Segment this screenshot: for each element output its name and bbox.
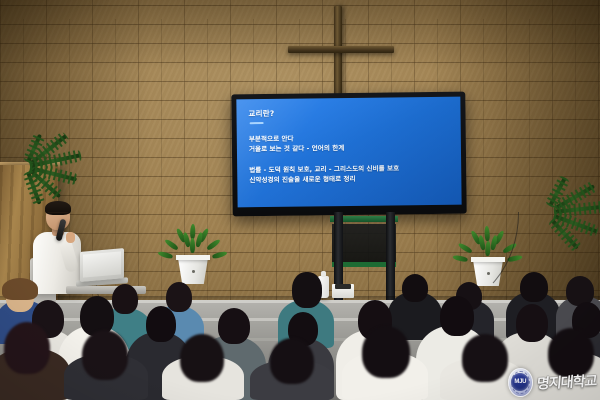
tissue-box <box>332 284 354 298</box>
audience-member <box>462 334 508 382</box>
slide-line: 신약성경의 진술을 새로운 형태로 정리 <box>249 173 453 185</box>
audience-member <box>112 284 138 314</box>
potted-plant-right-rim <box>471 257 505 262</box>
audience-member <box>180 334 224 382</box>
slide-content: 교리란? 부분적으로 안다 거울로 보는 것 같다 - 언어의 한계 법률 - … <box>248 106 453 185</box>
potted-plant-right-pot <box>473 260 503 286</box>
audience-member <box>166 282 192 312</box>
slide-title-underline <box>250 122 264 124</box>
university-name: 명지대학교 <box>536 370 598 393</box>
slide-title: 교리란? <box>248 106 452 119</box>
audience-member <box>362 326 410 378</box>
audience-member <box>2 278 38 300</box>
presentation-display[interactable]: 교리란? 부분적으로 안다 거울로 보는 것 같다 - 언어의 한계 법률 - … <box>231 92 466 217</box>
audience-member <box>440 296 474 336</box>
wooden-cross-horizontal <box>288 46 394 53</box>
audience-member <box>402 274 428 302</box>
audience-member <box>292 272 322 308</box>
slide-line: 거울로 보는 것 같다 - 언어의 한계 <box>249 142 453 154</box>
audience-member <box>218 308 250 344</box>
slide-body-block-1: 부분적으로 안다 거울로 보는 것 같다 - 언어의 한계 <box>249 132 453 154</box>
audience-member <box>146 306 176 342</box>
laptop-screen[interactable] <box>80 248 124 282</box>
photo-scene: 교리란? 부분적으로 안다 거울로 보는 것 같다 - 언어의 한계 법률 - … <box>0 0 600 400</box>
university-seal-icon: MJU <box>508 368 533 397</box>
potted-plant-left-pot <box>178 258 208 284</box>
slide-screen: 교리란? 부분적으로 안다 거울로 보는 것 같다 - 언어의 한계 법률 - … <box>236 97 461 208</box>
audience-member <box>516 304 548 342</box>
university-watermark: MJU 명지대학교 <box>508 367 596 397</box>
potted-plant-left-rim <box>176 255 210 260</box>
presenter-hand <box>66 232 75 243</box>
audience-member <box>270 338 314 384</box>
slide-body-block-2: 법률 - 도덕 원칙 보호, 교리 - 그리스도의 신비를 보호 신약성경의 진… <box>249 163 453 185</box>
audience-member <box>520 272 548 302</box>
tv-stand-leg-right <box>386 212 395 304</box>
audience-member <box>4 322 50 374</box>
presenter-glasses <box>48 212 68 218</box>
audience-member <box>82 330 128 380</box>
seal-ring <box>511 371 530 394</box>
